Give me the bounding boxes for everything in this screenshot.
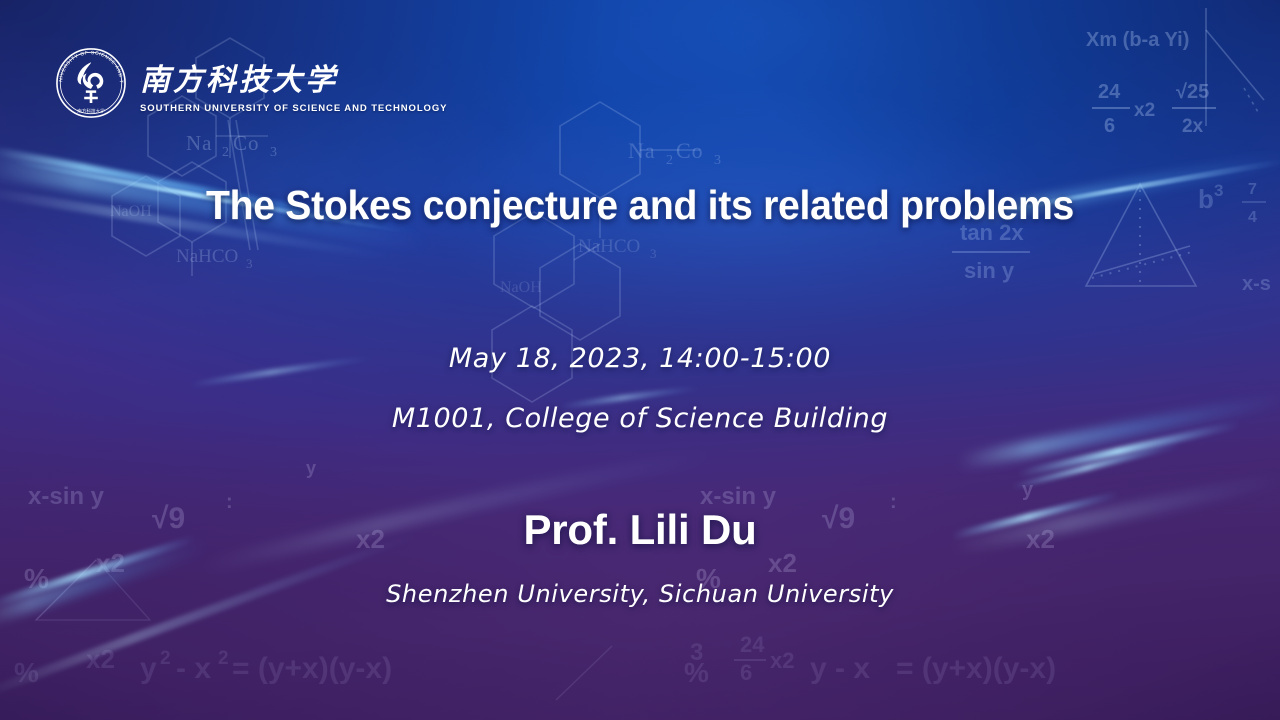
page-title: The Stokes conjecture and its related pr… xyxy=(29,182,1251,229)
sustech-logo: SOUTHERN UNIVERSITY OF SCIENCE AND TECHN… xyxy=(54,46,447,120)
logo-wordmark: 南方科技大学 SOUTHERN UNIVERSITY OF SCIENCE AN… xyxy=(140,53,447,114)
event-venue: M1001, College of Science Building xyxy=(0,403,1280,434)
svg-text:南方科技大学: 南方科技大学 xyxy=(140,63,339,98)
sustech-seal-icon: SOUTHERN UNIVERSITY OF SCIENCE AND TECHN… xyxy=(54,46,128,120)
seminar-poster: Na2Co3 NaHCO3 NaOH Na2Co3 NaHCO3 NaOH Xm… xyxy=(0,0,1280,720)
logo-english-name: SOUTHERN UNIVERSITY OF SCIENCE AND TECHN… xyxy=(140,103,447,114)
logo-chinese-name: 南方科技大学 xyxy=(140,57,447,101)
event-datetime: May 18, 2023, 14:00-15:00 xyxy=(0,343,1280,374)
svg-text:南方科技大学: 南方科技大学 xyxy=(77,108,105,115)
speaker-affiliation: Shenzhen University, Sichuan University xyxy=(0,580,1280,608)
speaker-name: Prof. Lili Du xyxy=(0,506,1280,554)
